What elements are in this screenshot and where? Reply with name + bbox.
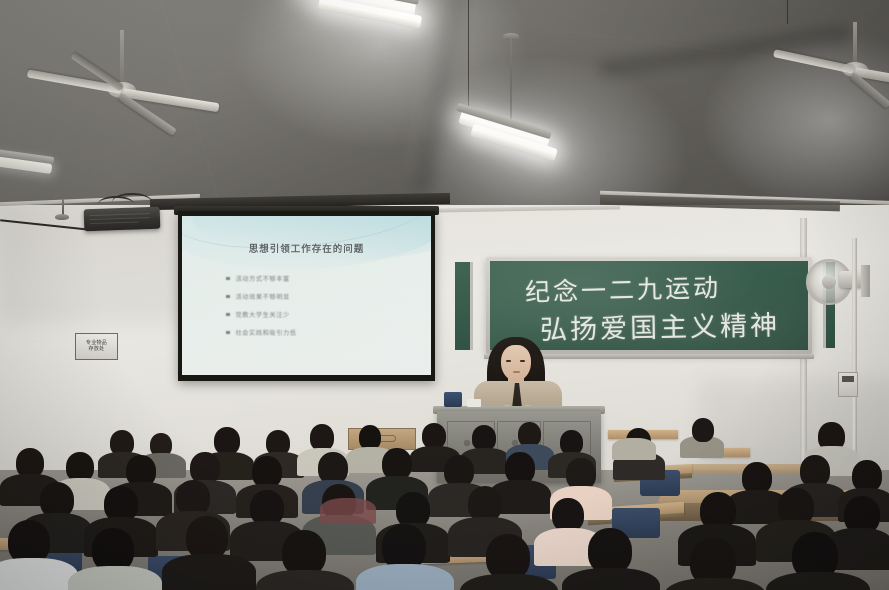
audience-head xyxy=(692,418,714,442)
lecture-hall-photo: 思想引领工作存在的问题 活动方式不够丰富 活动效果不够明显 党教大学生关注少 社… xyxy=(0,0,889,590)
audience-shoulders xyxy=(612,438,656,460)
audience-head xyxy=(552,498,584,532)
audience-shoulders xyxy=(356,564,454,590)
audience-shoulders xyxy=(162,554,256,590)
audience-shoulders xyxy=(320,498,376,524)
audience-shoulders xyxy=(562,568,660,590)
audience-shoulders xyxy=(256,570,354,590)
audience-shoulders xyxy=(0,558,78,590)
audience xyxy=(0,0,889,590)
audience-head xyxy=(310,424,334,451)
audience-shoulders xyxy=(664,578,766,590)
audience-shoulders xyxy=(68,566,162,590)
audience-shoulders xyxy=(766,572,870,590)
audience-shoulders xyxy=(460,574,558,590)
audience-head xyxy=(214,427,240,455)
